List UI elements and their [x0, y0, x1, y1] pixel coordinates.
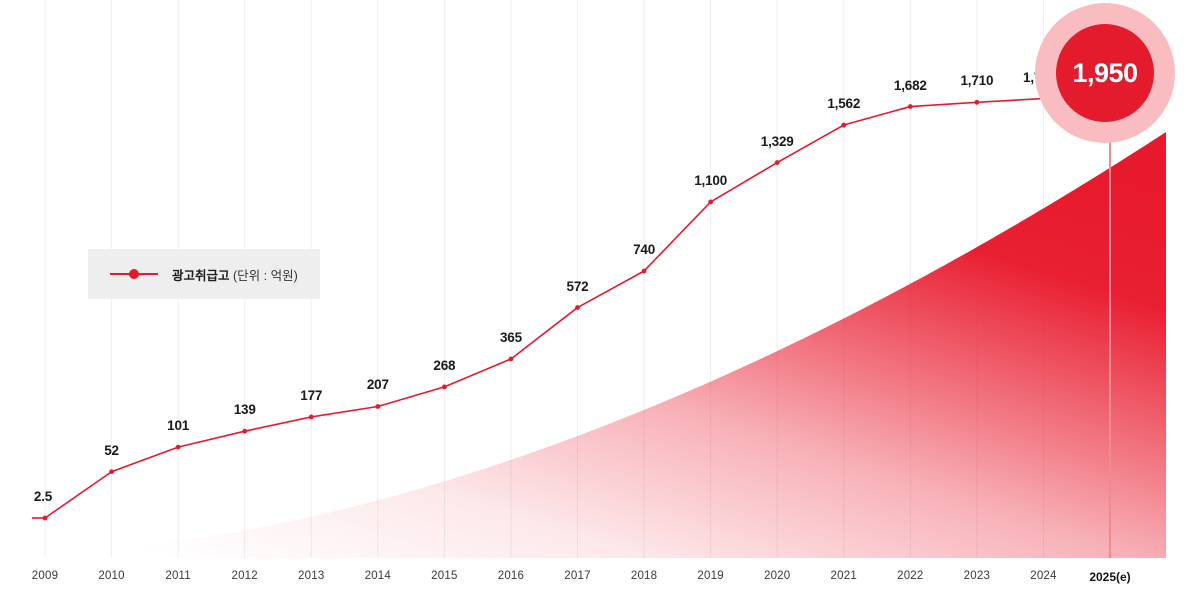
highlight-callout-inner: 1,950 [1056, 24, 1154, 122]
chart-legend: 광고취급고 (단위 : 억원) [88, 249, 320, 299]
data-point-label: 177 [300, 388, 322, 403]
data-point-marker [708, 200, 713, 205]
data-point-marker [908, 104, 913, 109]
data-point-label: 1,682 [894, 78, 927, 93]
data-point-label: 1,710 [960, 73, 993, 88]
x-axis-tick-label: 2009 [32, 570, 58, 582]
data-point-marker [575, 305, 580, 310]
data-point-marker [375, 404, 380, 409]
x-axis-tick-label: 2021 [831, 570, 857, 582]
data-point-marker [775, 160, 780, 165]
x-axis-tick-label: 2018 [631, 570, 657, 582]
data-point-marker [642, 269, 647, 274]
data-point-marker [309, 415, 314, 420]
legend-unit: (단위 : 억원) [233, 269, 298, 283]
data-point-label: 207 [367, 377, 389, 392]
x-axis-tick-label: 2010 [98, 570, 124, 582]
data-point-label: 740 [633, 242, 655, 257]
x-axis-tick-label: 2016 [498, 570, 524, 582]
x-axis-tick-label: 2015 [431, 570, 457, 582]
data-point-label: 268 [433, 358, 455, 373]
data-point-label: 101 [167, 418, 189, 433]
x-axis-tick-label: 2020 [764, 570, 790, 582]
data-point-marker [242, 429, 247, 434]
data-point-marker [109, 469, 114, 474]
x-axis-tick-label: 2023 [964, 570, 990, 582]
data-point-marker [442, 384, 447, 389]
x-axis-tick-label: 2012 [231, 570, 257, 582]
data-point-label: 2.5 [34, 489, 52, 504]
x-axis-tick-label: 2024 [1030, 570, 1056, 582]
highlight-callout-bubble: 1,950 [1035, 3, 1175, 143]
x-axis-tick-label: 2011 [165, 570, 191, 582]
data-point-label: 572 [567, 279, 589, 294]
data-point-marker [974, 100, 979, 105]
data-point-label: 1,100 [694, 173, 727, 188]
x-axis-tick-label: 2025(e) [1089, 570, 1130, 584]
highlight-callout-value: 1,950 [1072, 58, 1137, 89]
x-axis-tick-label: 2013 [298, 570, 324, 582]
x-axis-tick-label: 2022 [897, 570, 923, 582]
data-point-marker [176, 445, 181, 450]
data-point-label: 365 [500, 330, 522, 345]
data-point-marker [841, 123, 846, 128]
legend-series-name: 광고취급고 [172, 269, 230, 283]
data-point-marker [509, 357, 514, 362]
chart-container: 2.5521011391772072683655727401,1001,3291… [0, 0, 1200, 600]
data-point-label: 1,329 [761, 134, 794, 149]
x-axis-tick-label: 2017 [564, 570, 590, 582]
data-point-label: 1,562 [827, 96, 860, 111]
data-point-label: 52 [104, 443, 119, 458]
legend-line-marker-icon [110, 268, 158, 280]
legend-label: 광고취급고 (단위 : 억원) [172, 265, 298, 284]
x-axis-tick-label: 2019 [697, 570, 723, 582]
x-axis-tick-label: 2014 [365, 570, 391, 582]
data-point-label: 139 [234, 402, 256, 417]
series-line-layer [0, 0, 1200, 600]
